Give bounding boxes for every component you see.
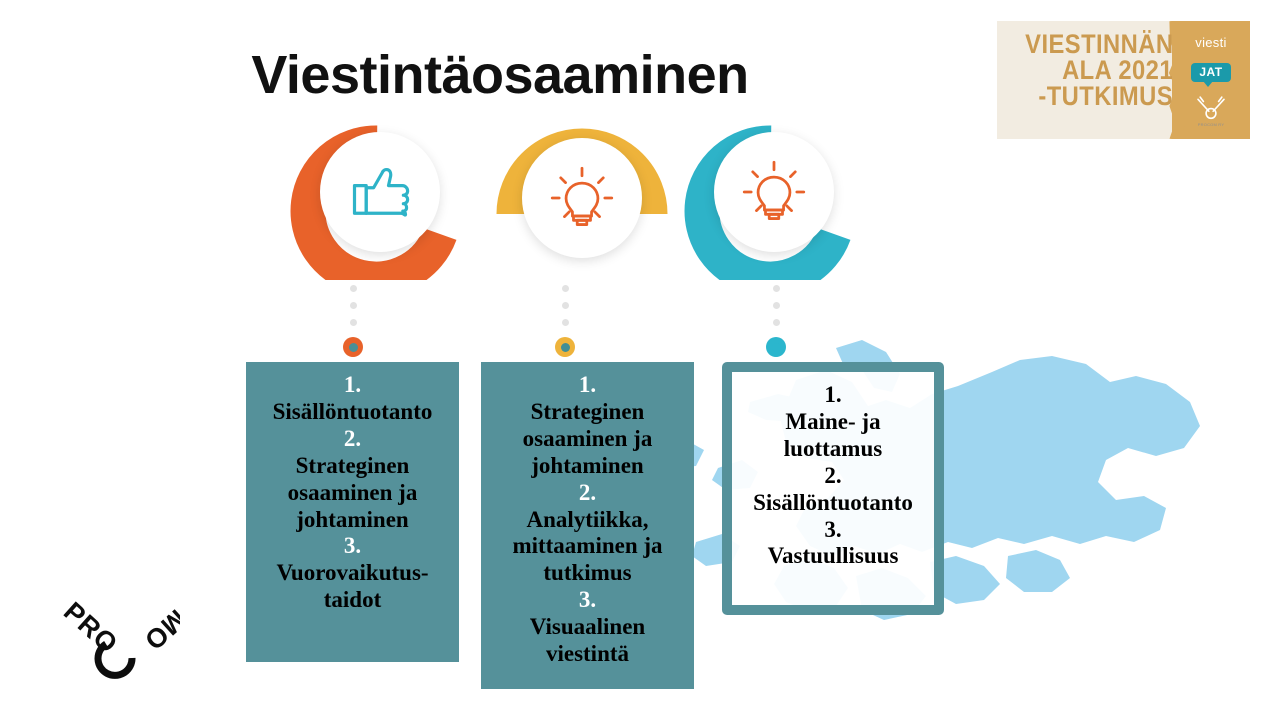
icon-group-2 [490,120,675,280]
procom-logo-caption: PROCOM RY [1198,122,1224,127]
item-label: Visuaalinen viestintä [489,614,686,668]
connector-dot [562,285,569,292]
research-banner: VIESTINNÄN ALA 2021 -TUTKIMUS viesti JAT [997,21,1250,139]
svg-text:PRO: PRO [58,596,124,659]
item-label: Maine- ja luottamus [740,409,926,463]
item-number: 3. [254,533,451,560]
item-number: 1. [254,372,451,399]
connector-dot [773,285,780,292]
connector-1 [340,285,366,357]
item-number: 3. [740,517,926,544]
page-title: Viestintäosaaminen [0,44,1000,106]
procom-logo: PRO MO [58,578,180,690]
icon-circle-2 [522,138,642,258]
connector-dot [350,302,357,309]
item-label: Sisällöntuotanto [254,399,451,426]
lightbulb-icon [740,158,808,226]
viesti-logo: viesti [1195,35,1226,50]
procom-logo-small [1194,95,1228,121]
banner-logo-stack: viesti JAT PROCOM RY [1175,29,1247,133]
icon-circle-1 [320,132,440,252]
item-label: Strateginen osaaminen ja johtaminen [254,453,451,534]
jat-logo: JAT [1191,63,1230,82]
item-label: Analytiikka, mittaaminen ja tutkimus [489,507,686,588]
connector-endpoint-1 [343,337,363,357]
banner-title: VIESTINNÄN ALA 2021 -TUTKIMUS [1025,31,1173,110]
connector-dot [350,319,357,326]
content-box-2: 1. Strateginen osaaminen ja johtaminen 2… [481,362,694,689]
item-label: Vastuullisuus [740,543,926,570]
item-number: 1. [740,382,926,409]
connector-endpoint-3 [766,337,786,357]
lightbulb-icon [548,164,616,232]
item-label: Vuorovaikutus-taidot [254,560,451,614]
thumbs-up-icon [346,158,414,226]
item-number: 2. [740,463,926,490]
banner-line-1: VIESTINNÄN [1025,31,1173,57]
connector-dot [562,302,569,309]
connector-2 [552,285,578,357]
item-label: Sisällöntuotanto [740,490,926,517]
connector-3 [763,285,789,357]
connector-dot [350,285,357,292]
icon-circle-3 [714,132,834,252]
item-number: 3. [489,587,686,614]
content-box-3: 1. Maine- ja luottamus 2. Sisällöntuotan… [722,362,944,615]
banner-line-2: ALA 2021 [1025,57,1173,83]
banner-line-3: -TUTKIMUS [1025,83,1173,109]
connector-dot [773,319,780,326]
connector-dot [773,302,780,309]
item-number: 2. [254,426,451,453]
slide-canvas: Viestintäosaaminen VIESTINNÄN ALA 2021 -… [0,0,1280,720]
item-number: 2. [489,480,686,507]
connector-dot [562,319,569,326]
content-box-1: 1. Sisällöntuotanto 2. Strateginen osaam… [246,362,459,662]
svg-text:MO: MO [138,604,180,657]
item-number: 1. [489,372,686,399]
item-label: Strateginen osaaminen ja johtaminen [489,399,686,480]
connector-endpoint-2 [555,337,575,357]
icon-group-1 [278,120,463,280]
icon-group-3 [672,120,857,280]
